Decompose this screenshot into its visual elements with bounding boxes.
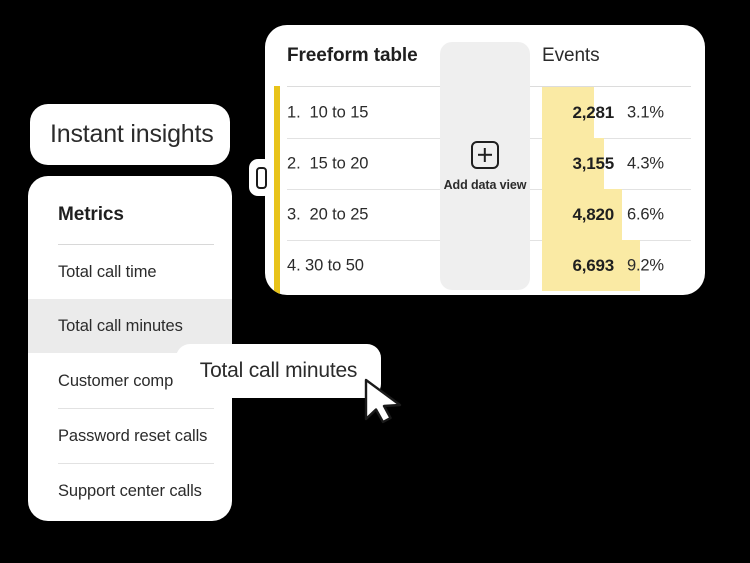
column-header-freeform-table: Freeform table [287, 45, 418, 67]
table-left-accent-bar [274, 86, 280, 295]
row-percent: 3.1% [627, 103, 683, 122]
screenshot-stage: Freeform table Events 1. 10 to 15 2,281 … [0, 0, 750, 563]
row-dimension-label: 2. 15 to 20 [287, 154, 368, 173]
row-percent: 4.3% [627, 154, 683, 173]
row-value: 6,693 [542, 256, 614, 276]
row-rank: 3. [287, 205, 301, 223]
row-value: 4,820 [542, 205, 614, 225]
row-rank: 2. [287, 154, 301, 172]
row-rank: 4. [287, 256, 301, 274]
metric-item-label: Password reset calls [58, 427, 207, 446]
metric-item-label: Support center calls [58, 482, 202, 501]
plus-icon [471, 141, 499, 169]
panel-drag-handle[interactable] [249, 159, 273, 196]
row-dimension-label: 1. 10 to 15 [287, 103, 368, 122]
row-dimension: 10 to 15 [310, 103, 369, 121]
instant-insights-label: Instant insights [50, 120, 214, 149]
add-data-view-dropzone[interactable]: Add data view [440, 42, 530, 290]
metric-item-label: Total call time [58, 263, 156, 282]
add-data-view-label: Add data view [444, 178, 527, 192]
row-dimension-label: 4. 30 to 50 [287, 256, 364, 275]
tooltip-label: Total call minutes [200, 359, 357, 383]
drag-handle-icon [256, 167, 267, 189]
row-dimension-label: 3. 20 to 25 [287, 205, 368, 224]
tooltip: Total call minutes [176, 344, 381, 398]
column-header-events: Events [542, 45, 600, 67]
metric-item-password-reset-calls[interactable]: Password reset calls [28, 409, 232, 463]
metric-item-label: Total call minutes [58, 317, 183, 336]
row-dimension: 20 to 25 [310, 205, 369, 223]
row-dimension: 15 to 20 [310, 154, 369, 172]
metric-item-support-center-calls[interactable]: Support center calls [28, 464, 232, 518]
freeform-table-card: Freeform table Events 1. 10 to 15 2,281 … [265, 25, 705, 295]
row-value: 3,155 [542, 154, 614, 174]
row-percent: 6.6% [627, 205, 683, 224]
row-rank: 1. [287, 103, 301, 121]
metric-item-total-call-time[interactable]: Total call time [28, 245, 232, 299]
row-value: 2,281 [542, 103, 614, 123]
instant-insights-button[interactable]: Instant insights [30, 104, 230, 165]
row-percent: 9.2% [627, 256, 683, 275]
row-dimension: 30 to 50 [305, 256, 364, 274]
metrics-panel-title: Metrics [28, 176, 232, 226]
metric-item-label: Customer comp [58, 372, 173, 391]
